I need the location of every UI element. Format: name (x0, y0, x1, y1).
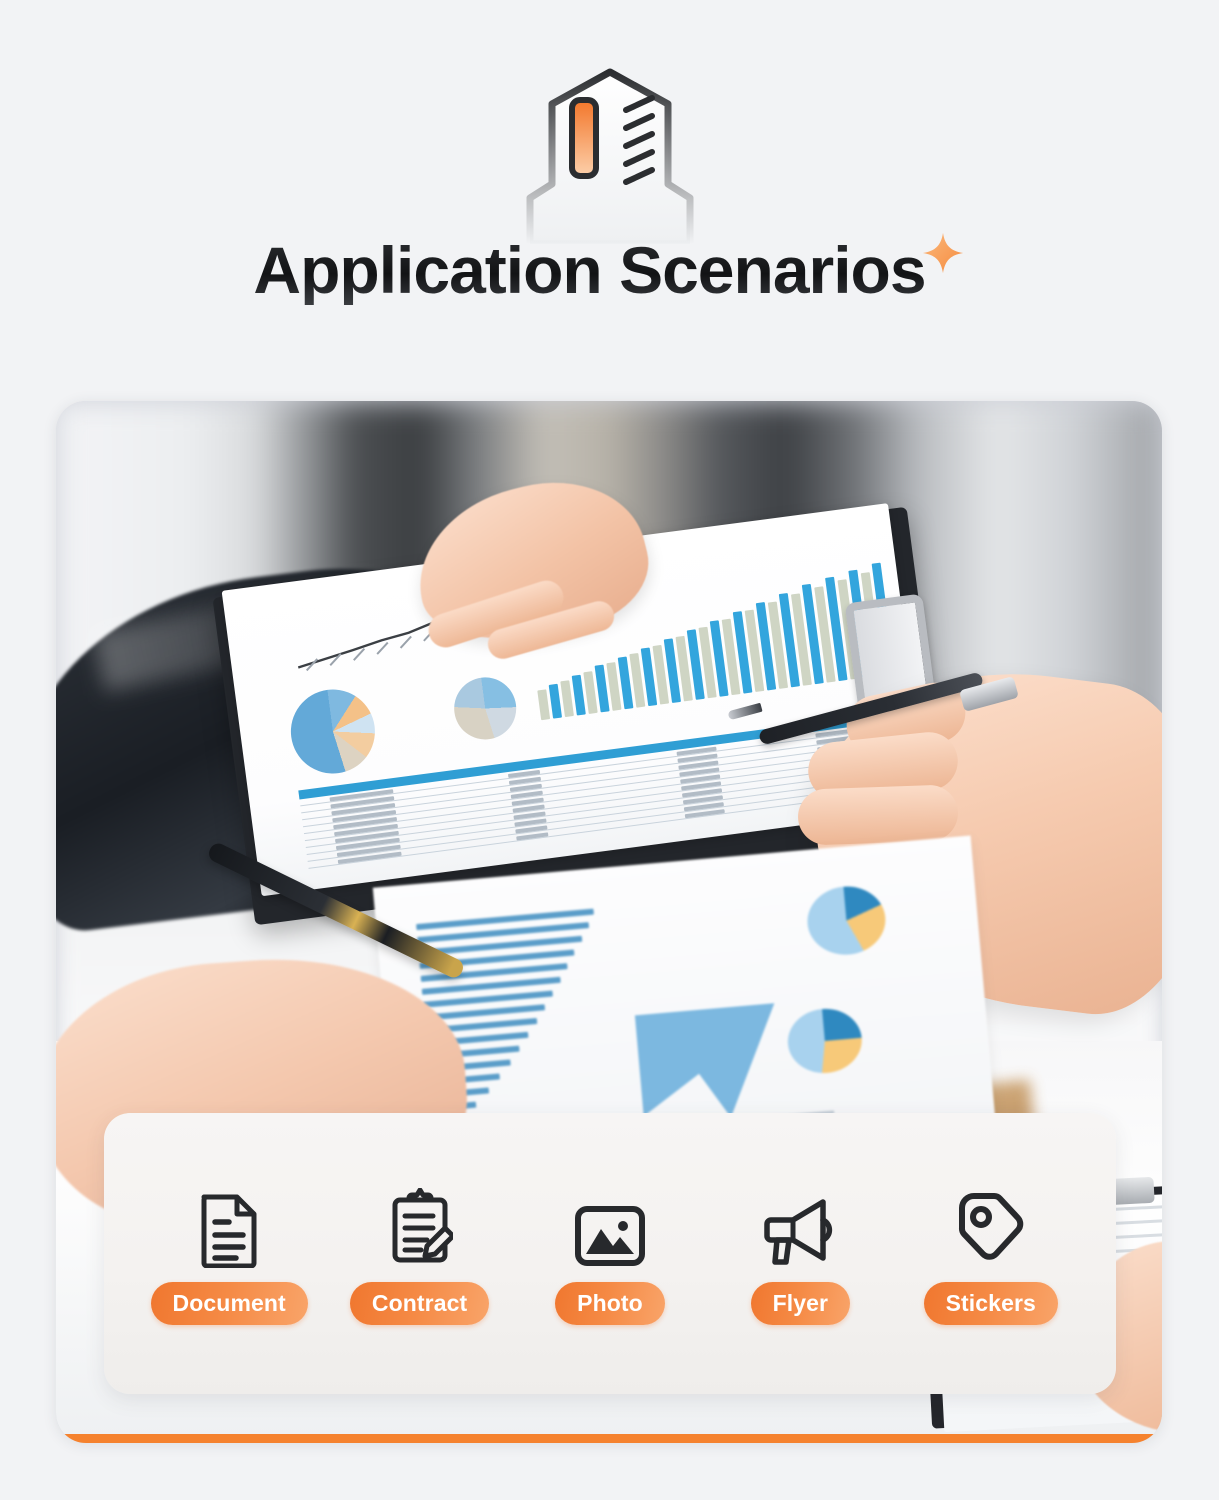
document-icon (198, 1182, 260, 1268)
feature-photo[interactable]: Photo (521, 1182, 699, 1325)
feature-flyer[interactable]: Flyer (711, 1182, 889, 1325)
feature-label-flyer[interactable]: Flyer (751, 1282, 850, 1325)
photo-table-pie-1 (805, 883, 889, 958)
page-header: Application Scenarios (0, 0, 1219, 392)
photo-knuckle (797, 784, 959, 846)
feature-stickers[interactable]: Stickers (902, 1182, 1080, 1325)
photo-table-funnel-chart (635, 1003, 784, 1125)
feature-label-photo[interactable]: Photo (555, 1282, 665, 1325)
scenario-feature-list: Document Contract (104, 1113, 1116, 1394)
feature-label-document[interactable]: Document (151, 1282, 308, 1325)
scenario-feature-card: Document Contract (104, 1113, 1116, 1394)
page-title: Application Scenarios (253, 236, 925, 305)
building-skyscraper-icon (500, 64, 720, 244)
feature-label-stickers[interactable]: Stickers (924, 1282, 1058, 1325)
title-row: Application Scenarios (0, 236, 1219, 305)
contract-clipboard-pen-icon (387, 1182, 453, 1268)
photo-image-icon (573, 1182, 647, 1268)
photo-pie-chart-1 (286, 684, 380, 778)
feature-label-contract[interactable]: Contract (350, 1282, 489, 1325)
feature-document[interactable]: Document (140, 1182, 318, 1325)
photo-pie-chart-2 (450, 674, 520, 744)
feature-contract[interactable]: Contract (331, 1182, 509, 1325)
price-tag-icon (956, 1182, 1026, 1268)
photo-table-pie-2 (785, 1006, 864, 1076)
brand-logo (500, 64, 720, 244)
sparkle-star-icon (920, 230, 966, 276)
megaphone-icon (761, 1182, 839, 1268)
